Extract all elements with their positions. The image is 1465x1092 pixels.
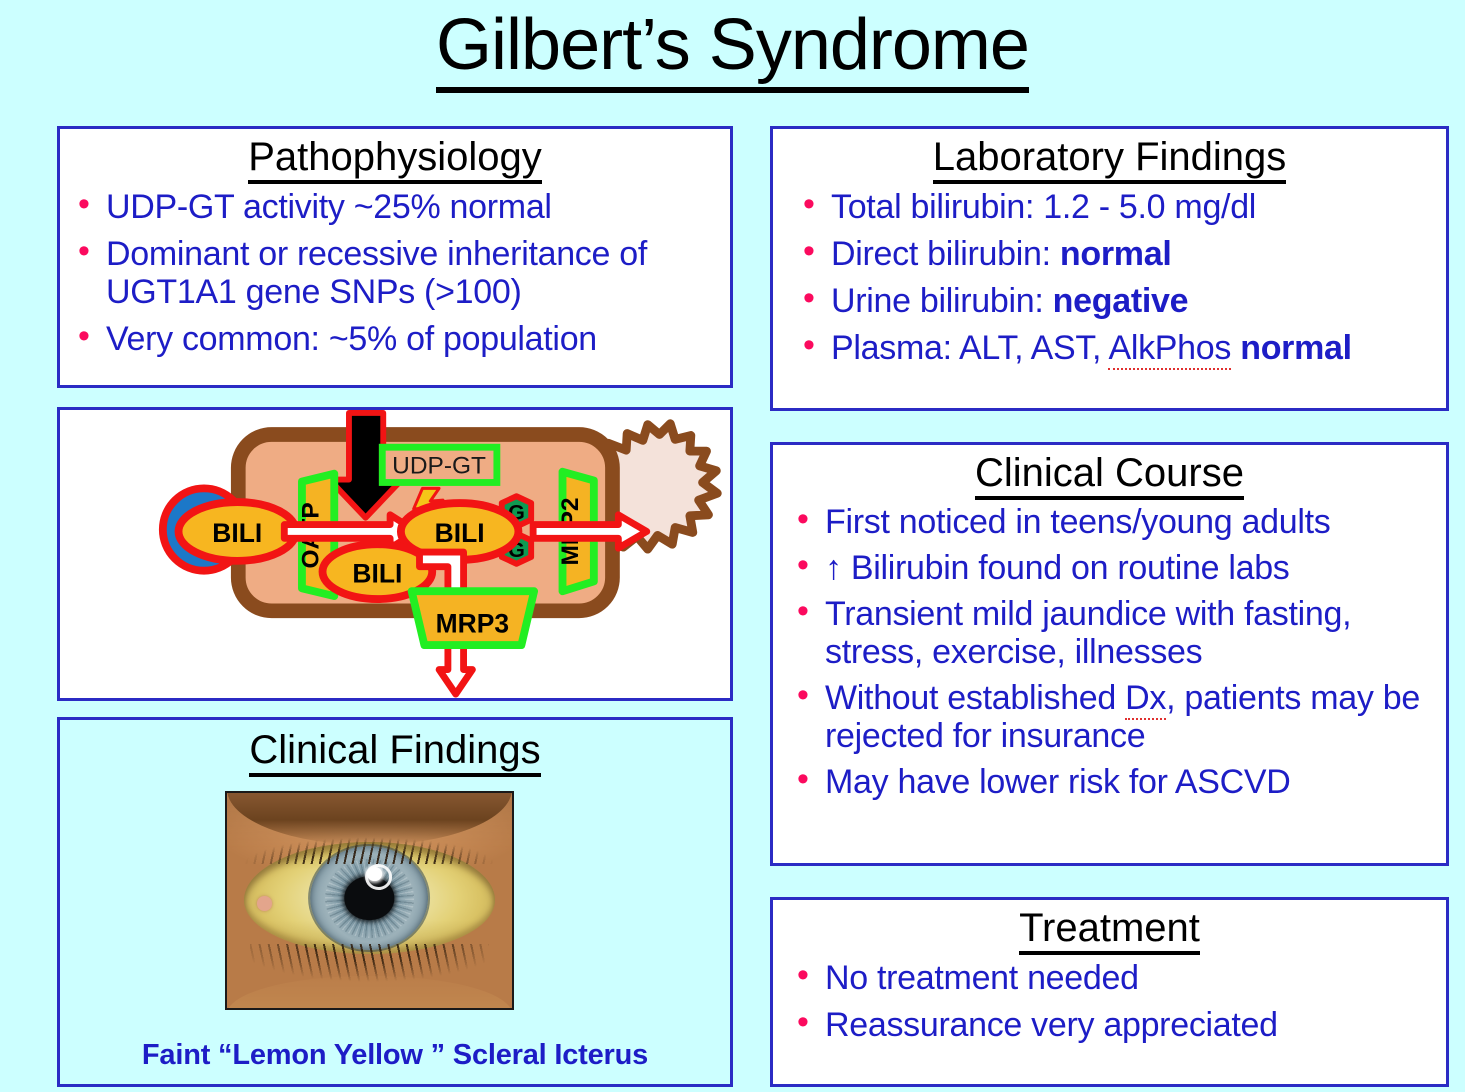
conjugated-bili-label: BILI xyxy=(435,518,485,548)
laboratory-findings-heading: Laboratory Findings xyxy=(773,135,1446,179)
lab-row-label: Direct bilirubin: xyxy=(831,235,1060,273)
treatment-heading: Treatment xyxy=(773,906,1446,950)
list-item: Dominant or recessive inheritance of UGT… xyxy=(70,235,730,311)
slide-root: Gilbert’s Syndrome Pathophysiology UDP-G… xyxy=(0,0,1465,1092)
albumin-bili-label: BILI xyxy=(212,518,262,548)
lab-row-value: negative xyxy=(1053,282,1189,320)
clinical-course-panel: Clinical Course First noticed in teens/y… xyxy=(770,442,1449,866)
treatment-panel: Treatment No treatment needed Reassuranc… xyxy=(770,897,1449,1087)
spellcheck-underline: Dx xyxy=(1125,679,1166,720)
cytosolic-bili-label: BILI xyxy=(352,558,402,588)
laboratory-findings-panel: Laboratory Findings Total bilirubin: 1.2… xyxy=(770,126,1449,411)
pathophysiology-heading-text: Pathophysiology xyxy=(248,135,542,184)
hepatocyte-bilirubin-transport-diagram: BILI OATP UDP-GT G xyxy=(60,410,730,698)
mrp3-label: MRP3 xyxy=(436,608,509,638)
clinical-findings-heading: Clinical Findings xyxy=(60,728,730,772)
list-item: Without established Dx, patients may be … xyxy=(789,679,1446,755)
clinical-course-list: First noticed in teens/young adults ↑ Bi… xyxy=(789,503,1446,801)
pathophysiology-panel: Pathophysiology UDP-GT activity ~25% nor… xyxy=(57,126,733,388)
pathophysiology-list: UDP-GT activity ~25% normal Dominant or … xyxy=(70,188,730,358)
clinical-findings-panel: Clinical Findings Faint “Lemon Yellow ” … xyxy=(57,717,733,1087)
list-item: ↑ Bilirubin found on routine labs xyxy=(789,549,1446,587)
clinical-course-heading-text: Clinical Course xyxy=(975,451,1244,500)
list-item: Plasma: ALT, AST, AlkPhos normal xyxy=(795,329,1446,367)
pathophysiology-heading: Pathophysiology xyxy=(60,135,730,179)
hepatocyte-diagram-panel: BILI OATP UDP-GT G xyxy=(57,407,733,701)
list-item: Total bilirubin: 1.2 - 5.0 mg/dl xyxy=(795,188,1446,226)
list-item: First noticed in teens/young adults xyxy=(789,503,1446,541)
list-item: May have lower risk for ASCVD xyxy=(789,763,1446,801)
list-item: Very common: ~5% of population xyxy=(70,320,730,358)
list-item: UDP-GT activity ~25% normal xyxy=(70,188,730,226)
lab-row-value: normal xyxy=(1060,235,1172,273)
laboratory-findings-heading-text: Laboratory Findings xyxy=(933,135,1287,184)
list-item: Transient mild jaundice with fasting, st… xyxy=(789,595,1446,671)
mrp3-transporter: MRP3 xyxy=(412,591,534,645)
treatment-list: No treatment needed Reassurance very app… xyxy=(789,959,1446,1044)
clinical-course-heading: Clinical Course xyxy=(773,451,1446,495)
scleral-icterus-photo xyxy=(225,791,514,1010)
list-item: No treatment needed xyxy=(789,959,1446,997)
lower-eyelashes xyxy=(250,944,489,991)
clinical-findings-heading-text: Clinical Findings xyxy=(249,728,540,777)
corneal-reflection xyxy=(367,867,382,881)
spellcheck-underline: AlkPhos xyxy=(1108,329,1231,370)
list-item: Reassurance very appreciated xyxy=(789,1006,1446,1044)
list-item: Urine bilirubin: negative xyxy=(795,282,1446,320)
list-item: Direct bilirubin: normal xyxy=(795,235,1446,273)
photo-caption: Faint “Lemon Yellow ” Scleral Icterus xyxy=(60,1039,730,1072)
udp-gt-label: UDP-GT xyxy=(392,453,486,480)
laboratory-findings-list: Total bilirubin: 1.2 - 5.0 mg/dl Direct … xyxy=(795,188,1446,367)
treatment-heading-text: Treatment xyxy=(1019,906,1200,955)
caruncle xyxy=(257,896,272,911)
udp-gt-enzyme-box: UDP-GT xyxy=(382,447,497,482)
page-title: Gilbert’s Syndrome xyxy=(0,2,1465,88)
lab-row-label: Plasma: ALT, AST, AlkPhos xyxy=(831,329,1240,370)
lab-row-label: Total bilirubin: 1.2 - 5.0 mg/dl xyxy=(831,188,1256,226)
lab-row-value: normal xyxy=(1240,329,1352,367)
lab-row-label: Urine bilirubin: xyxy=(831,282,1053,320)
page-title-text: Gilbert’s Syndrome xyxy=(436,5,1029,93)
